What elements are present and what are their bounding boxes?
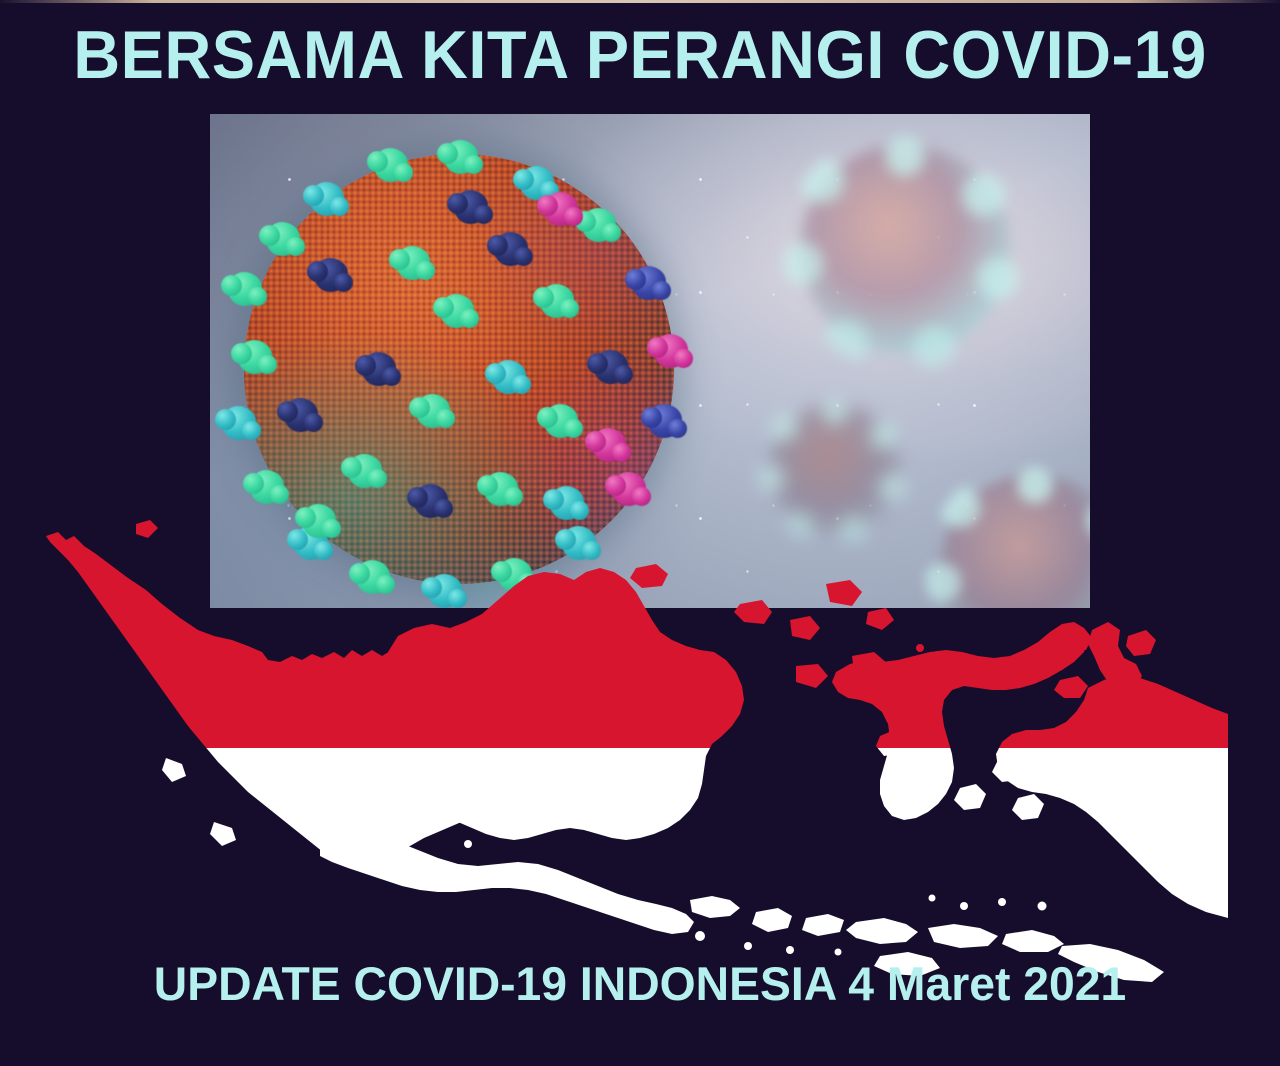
spike-protein xyxy=(540,284,574,318)
spike-protein xyxy=(440,294,474,328)
spike-protein xyxy=(250,470,284,504)
spike-protein xyxy=(396,246,430,280)
spike-protein xyxy=(444,140,478,174)
spike-protein xyxy=(266,222,300,256)
page-title: BERSAMA KITA PERANGI COVID-19 xyxy=(29,18,1251,92)
spike-protein xyxy=(238,340,272,374)
spike-protein xyxy=(362,352,396,386)
spike-protein xyxy=(348,454,382,488)
flag-white-band xyxy=(0,748,1280,1066)
spike-protein xyxy=(494,232,528,266)
spike-protein xyxy=(374,148,408,182)
spike-protein xyxy=(582,208,616,242)
spike-protein xyxy=(416,394,450,428)
background-virion-1 xyxy=(800,144,1010,354)
virus-photo xyxy=(210,114,1090,608)
spike-protein xyxy=(550,486,584,520)
spike-protein xyxy=(654,334,688,368)
spike-protein xyxy=(310,182,344,216)
spike-protein xyxy=(314,258,348,292)
spike-protein xyxy=(592,428,626,462)
background-virion-2 xyxy=(770,404,900,534)
spike-protein xyxy=(632,266,666,300)
spike-protein xyxy=(492,360,526,394)
main-virion xyxy=(244,154,674,584)
spike-protein xyxy=(302,504,336,538)
spike-protein xyxy=(454,190,488,224)
spike-protein xyxy=(356,560,390,594)
spike-protein xyxy=(414,484,448,518)
spike-protein xyxy=(544,404,578,438)
spike-protein xyxy=(648,404,682,438)
spike-protein xyxy=(484,472,518,506)
poster-canvas: BERSAMA KITA PERANGI COVID-19 xyxy=(0,0,1280,1066)
spike-protein xyxy=(222,406,256,440)
spike-protein xyxy=(544,192,578,226)
spike-protein xyxy=(284,398,318,432)
spike-protein xyxy=(562,526,596,560)
top-edge-strip xyxy=(0,0,1280,3)
spike-protein xyxy=(612,472,646,506)
spike-protein xyxy=(428,574,462,608)
spike-protein xyxy=(228,272,262,306)
spike-protein xyxy=(498,558,532,592)
background-virion-3 xyxy=(940,474,1090,608)
page-footer-title: UPDATE COVID-19 INDONESIA 4 Maret 2021 xyxy=(10,958,1271,1010)
spike-protein xyxy=(594,350,628,384)
